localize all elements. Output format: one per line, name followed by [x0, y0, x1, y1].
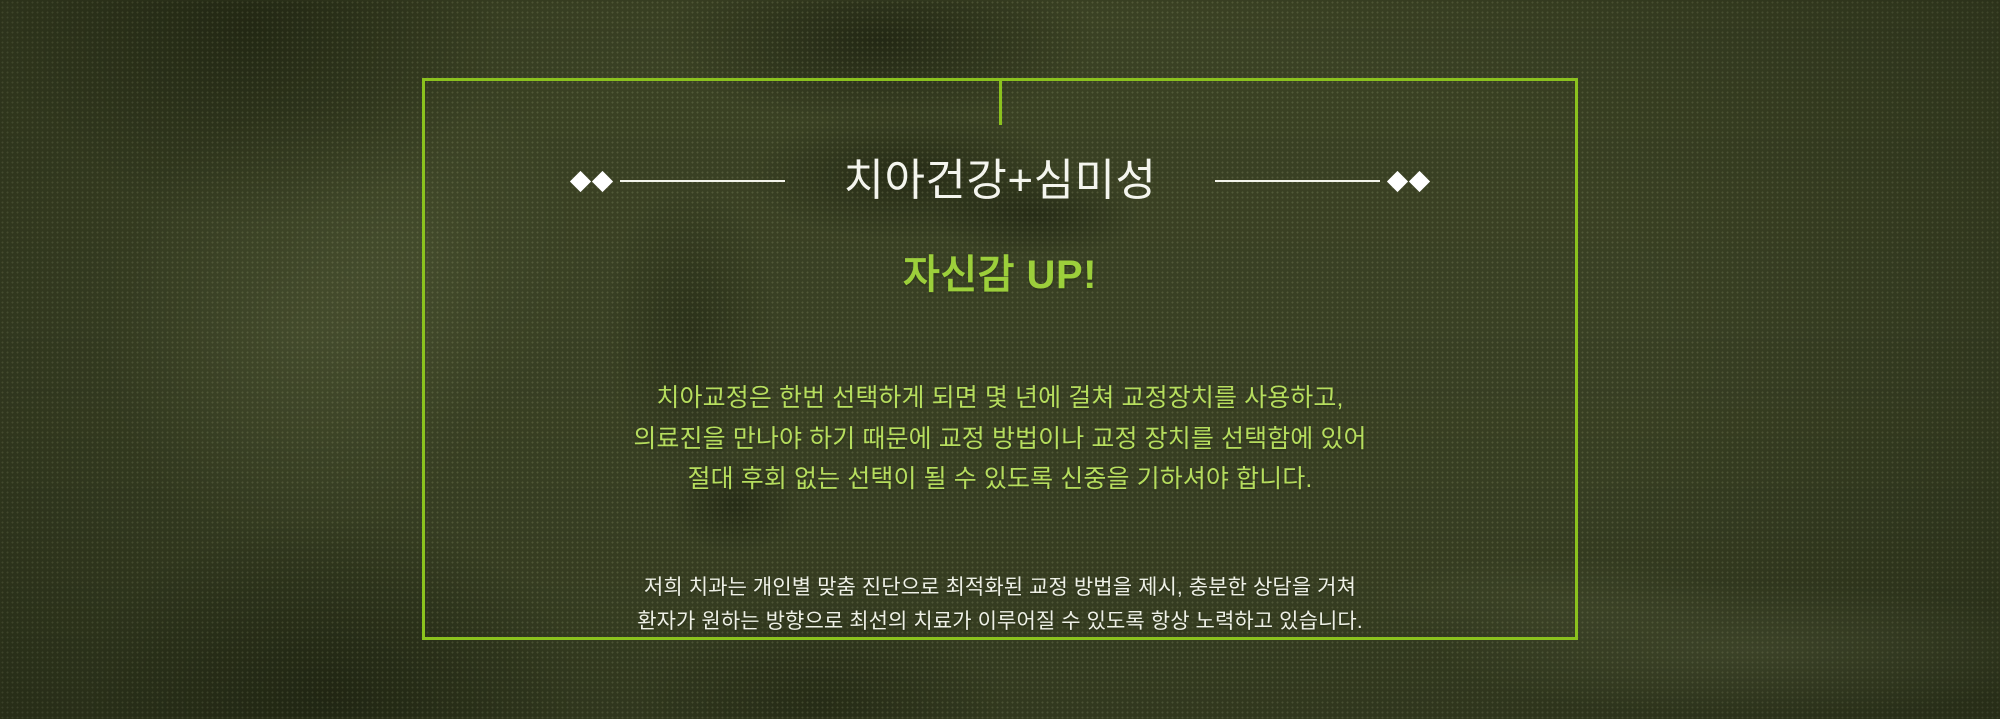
diamond-icon: [1386, 171, 1407, 192]
heading-decoration-right: [1215, 174, 1427, 189]
heading-row: 치아건강+심미성: [422, 130, 1578, 233]
paragraph-secondary-line: 저희 치과는 개인별 맞춤 진단으로 최적화된 교정 방법을 제시, 충분한 상…: [637, 571, 1363, 605]
horizontal-rule-right: [1215, 180, 1380, 182]
horizontal-rule-left: [620, 180, 785, 182]
paragraph-primary: 치아교정은 한번 선택하게 되면 몇 년에 걸쳐 교정장치를 사용하고, 의료진…: [633, 378, 1366, 500]
diamond-icon: [592, 171, 613, 192]
paragraph-secondary-line: 환자가 원하는 방향으로 최선의 치료가 이루어질 수 있도록 항상 노력하고 …: [637, 605, 1363, 639]
subtitle-accent: 자신감 UP!: [903, 253, 1097, 297]
paragraph-secondary: 저희 치과는 개인별 맞춤 진단으로 최적화된 교정 방법을 제시, 충분한 상…: [637, 571, 1363, 639]
promo-banner: 치아건강+심미성 자신감 UP! 치아교정은 한번 선택하게 되면 몇 년에 걸…: [0, 0, 2000, 719]
banner-content: 치아건강+심미성 자신감 UP! 치아교정은 한번 선택하게 되면 몇 년에 걸…: [422, 78, 1578, 640]
paragraph-primary-line: 치아교정은 한번 선택하게 되면 몇 년에 걸쳐 교정장치를 사용하고,: [633, 378, 1366, 419]
heading-decoration-left: [573, 174, 785, 189]
paragraph-primary-line: 의료진을 만나야 하기 때문에 교정 방법이나 교정 장치를 선택함에 있어: [633, 419, 1366, 460]
paragraph-primary-line: 절대 후회 없는 선택이 될 수 있도록 신중을 기하셔야 합니다.: [633, 459, 1366, 500]
diamond-icon: [570, 171, 591, 192]
page-title: 치아건강+심미성: [785, 159, 1214, 203]
diamond-icon: [1408, 171, 1429, 192]
